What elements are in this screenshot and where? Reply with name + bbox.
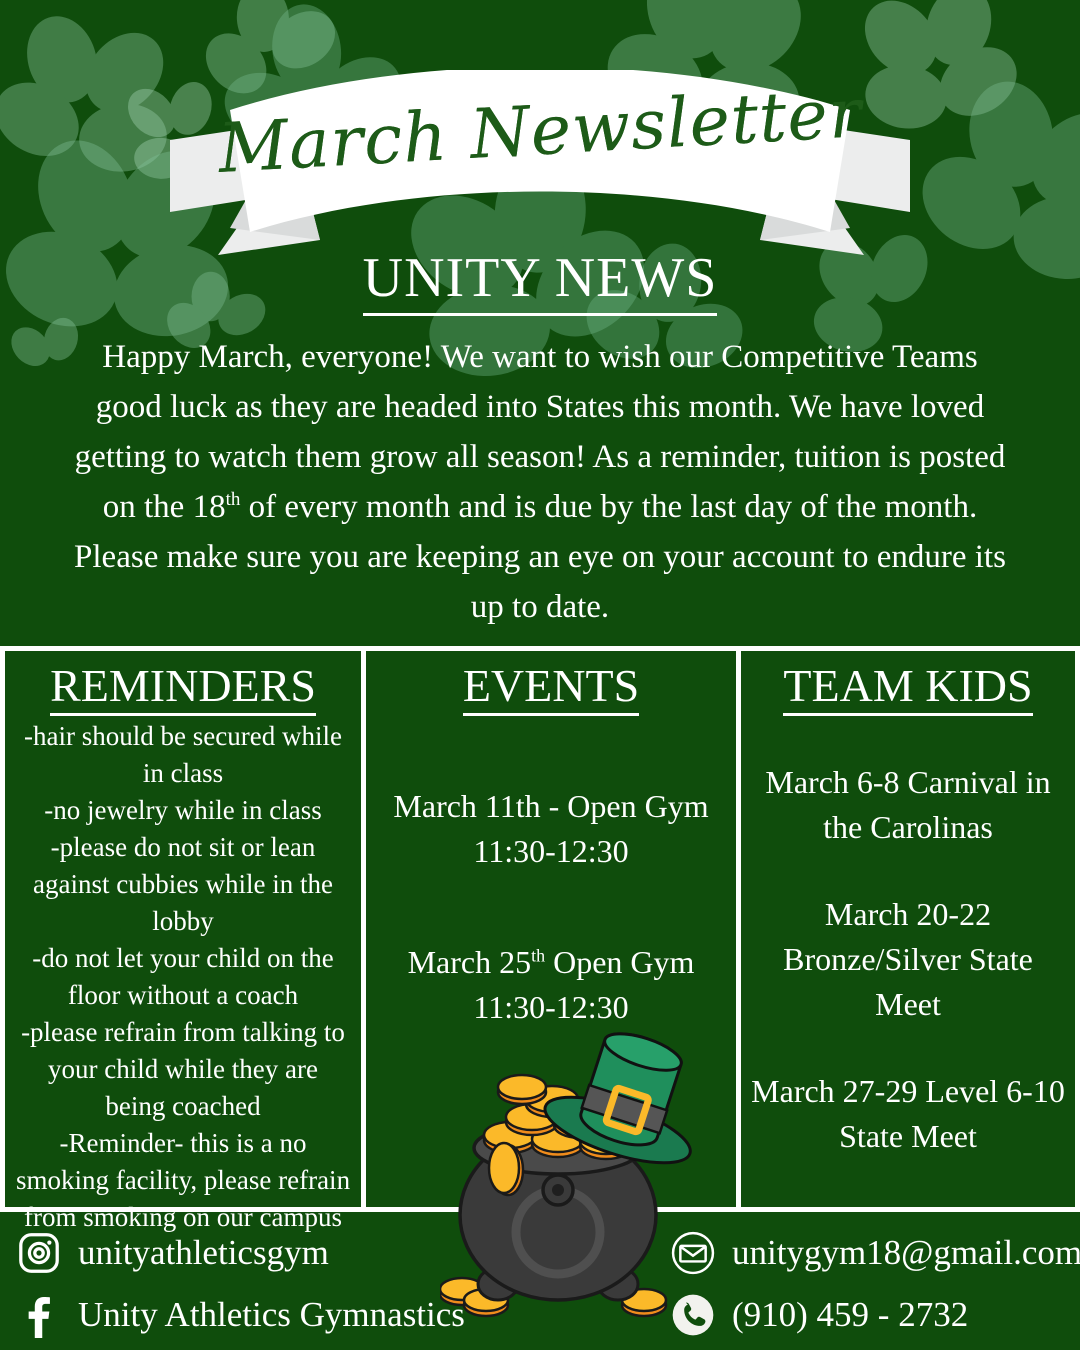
events-mid-spacer — [376, 874, 726, 940]
phone-number[interactable]: (910) 459 - 2732 — [732, 1295, 968, 1335]
facebook-icon[interactable] — [14, 1290, 64, 1340]
intro-line-3: getting to watch them grow all season! A… — [75, 439, 1006, 475]
team-kids-heading-wrap: TEAM KIDS — [751, 659, 1065, 712]
event-item-2: March 25th Open Gym 11:30-12:30 — [376, 940, 726, 1030]
team-kids-item-2: March 20-22 Bronze/Silver State Meet — [751, 892, 1065, 1027]
page-title: UNITY NEWS — [0, 246, 1080, 310]
events-heading: EVENTS — [463, 660, 639, 716]
reminder-item: -hair should be secured while in class — [15, 718, 351, 792]
reminder-item: -no jewelry while in class — [15, 792, 351, 829]
instagram-icon[interactable] — [14, 1228, 64, 1278]
event-item-1: March 11th - Open Gym 11:30-12:30 — [376, 784, 726, 874]
ribbon-banner: March Newsletter — [170, 70, 910, 270]
events-heading-wrap: EVENTS — [376, 659, 726, 712]
email-address[interactable]: unitygym18@gmail.com — [732, 1233, 1080, 1273]
event-1-title: March 11th - Open Gym — [376, 784, 726, 829]
events-top-spacer — [376, 718, 726, 784]
reminder-item: -do not let your child on the floor with… — [15, 940, 351, 1014]
reminder-item: -please do not sit or lean against cubbi… — [15, 829, 351, 940]
team-kids-item-3: March 27-29 Level 6-10 State Meet — [751, 1069, 1065, 1159]
team-kids-spacer-2 — [751, 1027, 1065, 1069]
reminders-heading: REMINDERS — [50, 660, 316, 716]
team-kids-heading: TEAM KIDS — [783, 660, 1032, 716]
intro-line-1: Happy March, everyone! We want to wish o… — [102, 339, 977, 375]
event-1-time: 11:30-12:30 — [376, 829, 726, 874]
reminders-heading-wrap: REMINDERS — [15, 659, 351, 712]
event-2-title: March 25th Open Gym — [376, 940, 726, 985]
page-title-text: UNITY NEWS — [363, 247, 718, 316]
event-2-ordinal-suffix: th — [531, 945, 545, 965]
intro-line-4b: of every month and is due by the last da… — [240, 489, 977, 525]
event-2-label: Open Gym — [545, 944, 694, 980]
intro-paragraph: Happy March, everyone! We want to wish o… — [30, 332, 1050, 632]
column-team-kids: TEAM KIDS March 6-8 Carnival in the Caro… — [741, 651, 1080, 1207]
facebook-handle[interactable]: Unity Athletics Gymnastics — [78, 1295, 465, 1335]
intro-line-2: good luck as they are headed into States… — [96, 389, 984, 425]
instagram-handle[interactable]: unityathleticsgym — [78, 1233, 329, 1273]
pot-of-gold-illustration — [440, 1022, 730, 1322]
intro-ordinal-suffix: th — [226, 489, 241, 510]
team-kids-item-1: March 6-8 Carnival in the Carolinas — [751, 760, 1065, 850]
reminder-item: -please refrain from talking to your chi… — [15, 1014, 351, 1125]
intro-line-5: Please make sure you are keeping an eye … — [74, 539, 1006, 575]
team-kids-spacer-1 — [751, 850, 1065, 892]
column-reminders: REMINDERS -hair should be secured while … — [0, 651, 366, 1207]
intro-line-6: up to date. — [471, 589, 609, 625]
newsletter-page: March Newsletter UNITY NEWS Happy March,… — [0, 0, 1080, 1350]
reminders-list: -hair should be secured while in class -… — [15, 718, 351, 1236]
team-kids-top-spacer — [751, 718, 1065, 760]
intro-line-4a: on the 18 — [103, 489, 226, 525]
event-2-date: March 25 — [408, 944, 532, 980]
